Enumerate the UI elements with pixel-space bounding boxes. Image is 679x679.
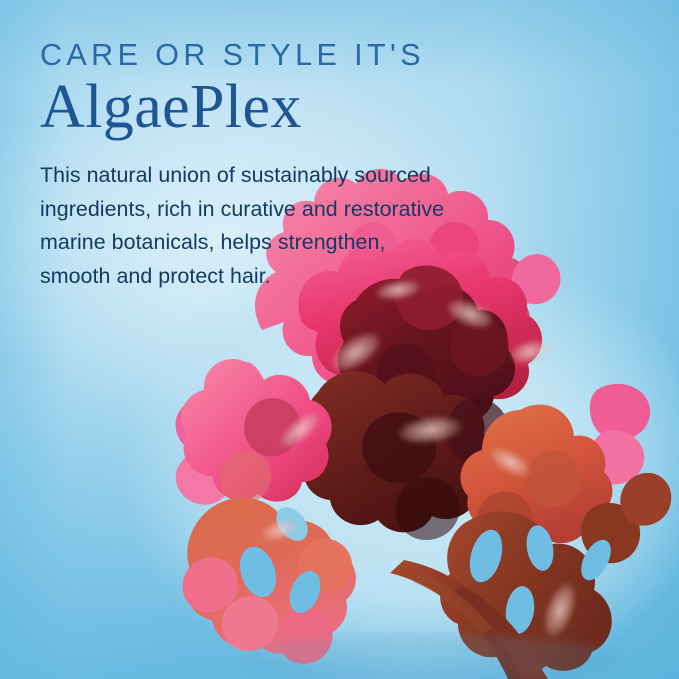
eyebrow-heading: CARE OR STYLE IT'S: [40, 38, 560, 74]
copy-block: CARE OR STYLE IT'S AlgaePlex This natura…: [40, 38, 560, 293]
body-line-4: smooth and protect hair.: [40, 260, 510, 294]
body-line-1: This natural union of sustainably source…: [40, 159, 510, 193]
product-wordmark: AlgaePlex: [40, 76, 560, 139]
body-paragraph: This natural union of sustainably source…: [40, 159, 510, 293]
body-line-3: marine botanicals, helps strengthen,: [40, 226, 510, 260]
body-line-2: ingredients, rich in curative and restor…: [40, 193, 510, 227]
algaeplex-banner: CARE OR STYLE IT'S AlgaePlex This natura…: [0, 0, 679, 679]
